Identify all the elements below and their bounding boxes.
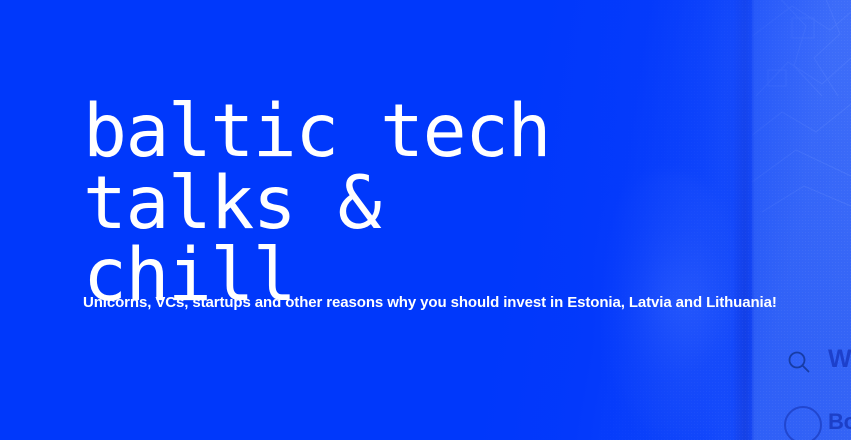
search-icon xyxy=(785,348,813,376)
page-title: baltic tech talks & chill xyxy=(83,96,783,312)
page-subtitle: Unicorns, VCs, startups and other reason… xyxy=(83,294,777,311)
hero-content: baltic tech talks & chill Unicorns, VCs,… xyxy=(83,96,783,312)
hero-banner: W Bo baltic tech talks & chill Unicorns,… xyxy=(0,0,851,440)
background-partial-label-2: Bo xyxy=(828,409,851,435)
background-partial-label-1: W xyxy=(828,345,851,374)
avatar-icon xyxy=(784,406,822,440)
